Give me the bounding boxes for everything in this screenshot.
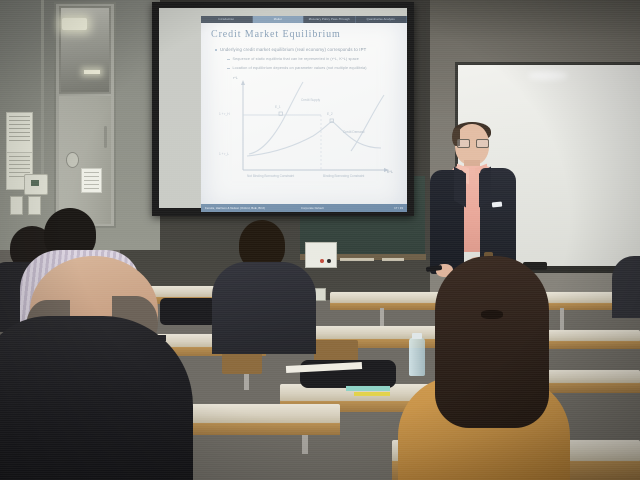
chart-ytick-high: 1 + r_H <box>219 112 230 116</box>
desk-row-near-left <box>170 404 340 424</box>
slide-bullet-1-text: Underlying credit market equilibrium (re… <box>220 47 366 52</box>
chart-annotation-credit-demand: Credit Demand <box>343 130 364 134</box>
small-wall-board <box>305 242 337 268</box>
sub-bullet-marker-icon <box>227 68 230 69</box>
wall-conduit <box>41 0 44 180</box>
slide-footer-section: Corporate Default <box>301 206 324 210</box>
hair-tie <box>481 310 503 319</box>
chart-region-label-left: Not Binding Borrowing Constraint <box>247 174 294 178</box>
nav-item-pass-through[interactable]: Monetary Policy Pass-Through <box>304 16 356 23</box>
wall-control-panel[interactable] <box>24 174 48 195</box>
foreground-torso <box>0 316 193 480</box>
wall-notice-upper <box>6 112 33 154</box>
chart-point-e2: E_2 <box>327 112 333 116</box>
chart-point-e1: E_1 <box>275 105 281 109</box>
slide-footer-page: 17 / 33 <box>394 206 403 210</box>
lecture-hall-photo: Introduction Model Monetary Policy Pass-… <box>0 0 640 480</box>
chart-ylabel: r^L <box>233 76 238 80</box>
projected-slide: Introduction Model Monetary Policy Pass-… <box>201 16 407 212</box>
highlighter[interactable] <box>354 392 390 396</box>
slide-bullet-2: Sequence of static equilibria that can b… <box>227 57 407 61</box>
water-bottle[interactable] <box>409 338 425 376</box>
audience-torso <box>612 256 640 318</box>
nav-item-model[interactable]: Model <box>253 16 305 23</box>
slide-footer-authors: Fereira, Harrison & Nelson (Oxford, BoE,… <box>205 206 265 210</box>
bullet-marker-icon <box>215 49 217 51</box>
chalk-mark <box>340 258 374 261</box>
corridor-light-secondary-icon <box>84 70 100 74</box>
desk-front-near-left <box>170 423 340 435</box>
wall-outlet-left[interactable] <box>10 196 23 215</box>
chart-xlabel: K^L <box>387 170 393 174</box>
pocket-square <box>492 201 502 207</box>
glasses-left-lens-icon <box>457 139 470 148</box>
woman-hair <box>435 256 549 428</box>
slide-nav-bar: Introduction Model Monetary Policy Pass-… <box>201 16 407 23</box>
corridor-light-icon <box>62 18 87 30</box>
projection-screen: Introduction Model Monetary Policy Pass-… <box>152 2 414 216</box>
sub-bullet-marker-icon <box>227 59 230 60</box>
chart-ytick-low: 1 + r_L <box>219 152 229 156</box>
credit-market-equilibrium-plot <box>217 78 397 188</box>
slide-chart: r^L K^L 1 + r_H 1 + r_L Credit Supply Cr… <box>217 78 397 188</box>
slide-title: Credit Market Equilibrium <box>211 29 407 40</box>
door-porthole <box>66 152 79 168</box>
wall-outlet-right[interactable] <box>28 196 41 215</box>
slide-bullet-2-text: Sequence of static equilibria that can b… <box>233 57 359 61</box>
chart-annotation-credit-supply: Credit Supply <box>301 98 320 102</box>
slide-bullet-3: Location of equilibrium depends on param… <box>227 66 407 70</box>
whiteboard-glare <box>528 71 568 80</box>
presenter-lapel-left <box>454 167 466 208</box>
nav-item-quantitative[interactable]: Quantitative Analysis <box>356 16 408 23</box>
slide-bullet-3-text: Location of equilibrium depends on param… <box>233 66 367 70</box>
desk-row-right-lower <box>540 370 640 384</box>
presenter-lapel-right <box>479 167 491 208</box>
audience-torso <box>212 262 316 354</box>
slide-bullet-1: Underlying credit market equilibrium (re… <box>215 47 407 52</box>
pen[interactable] <box>346 386 390 391</box>
door-notice-sign <box>81 168 102 193</box>
chart-region-label-right: Binding Borrowing Constraint <box>323 174 364 178</box>
nav-item-introduction[interactable]: Introduction <box>201 16 253 23</box>
chalk-mark <box>382 258 404 261</box>
bottle-cap <box>412 333 422 339</box>
screen-surface: Introduction Model Monetary Policy Pass-… <box>159 8 407 208</box>
door-handle[interactable] <box>104 126 107 148</box>
desk-front-right-lower <box>540 383 640 393</box>
glasses-right-lens-icon <box>476 139 489 148</box>
slide-footer: Fereira, Harrison & Nelson (Oxford, BoE,… <box>201 204 407 212</box>
